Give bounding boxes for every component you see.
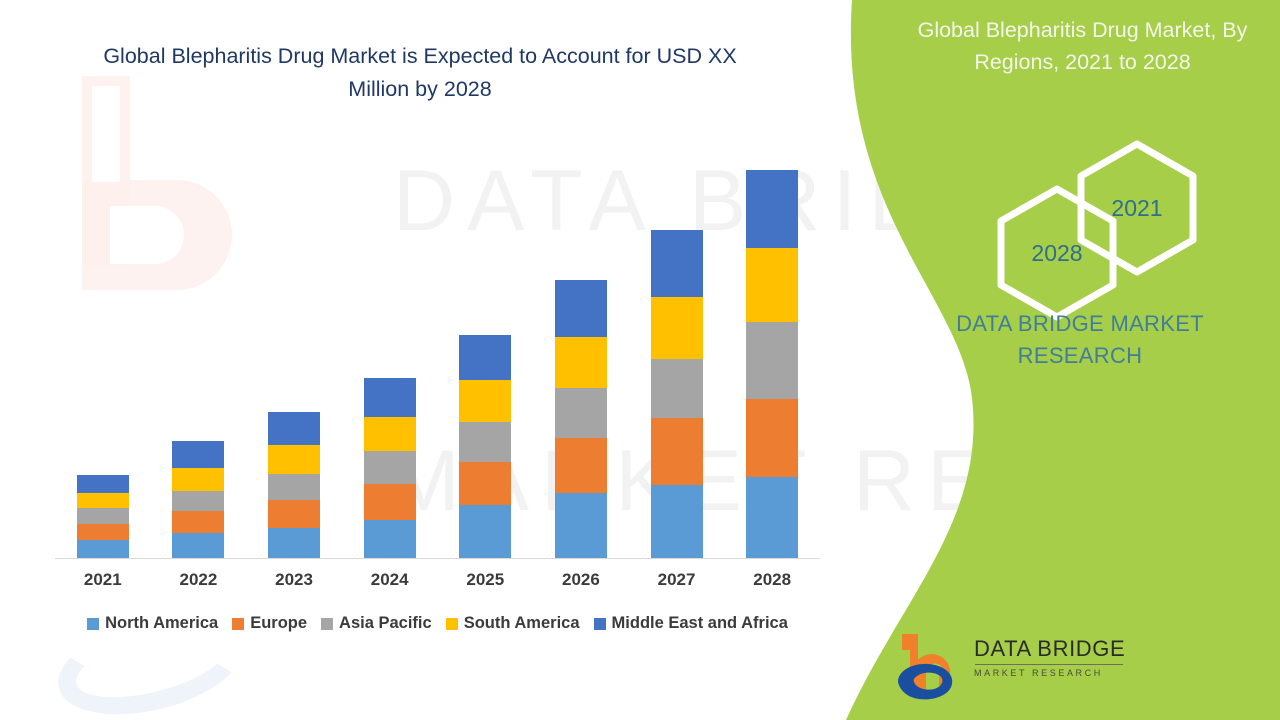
hexagon-badge-end: 2028 [994, 183, 1120, 323]
bar-segment[interactable] [172, 441, 224, 468]
bar-segment[interactable] [651, 359, 703, 418]
bar-segment[interactable] [555, 493, 607, 558]
x-axis-labels: 20212022202320242025202620272028 [55, 570, 820, 590]
hexagon-badges: 2021 2028 [980, 138, 1200, 298]
panel-title: Global Blepharitis Drug Market, By Regio… [890, 14, 1275, 78]
bar-segment[interactable] [746, 322, 798, 399]
legend-swatch-icon [594, 618, 606, 630]
x-axis-tick-label: 2026 [533, 570, 629, 590]
stacked-bar[interactable] [459, 335, 511, 558]
bar-segment[interactable] [459, 422, 511, 461]
logo-mark-icon [892, 630, 968, 706]
bar-slot [724, 170, 820, 558]
legend-label: North America [105, 614, 218, 633]
stacked-bar[interactable] [172, 441, 224, 558]
panel-content: Global Blepharitis Drug Market, By Regio… [880, 0, 1280, 720]
stacked-bar[interactable] [77, 475, 129, 558]
x-axis-tick-label: 2027 [629, 570, 725, 590]
bar-segment[interactable] [555, 438, 607, 493]
bar-segment[interactable] [77, 524, 129, 541]
legend-label: Asia Pacific [339, 614, 432, 633]
bar-segment[interactable] [555, 337, 607, 389]
x-axis-tick-label: 2028 [724, 570, 820, 590]
bar-segment[interactable] [268, 500, 320, 528]
bar-segment[interactable] [172, 511, 224, 533]
bar-segment[interactable] [364, 484, 416, 520]
hexagon-end-label: 2028 [994, 183, 1120, 323]
bar-segment[interactable] [651, 485, 703, 558]
legend-swatch-icon [232, 618, 244, 630]
legend-label: South America [464, 614, 580, 633]
brand-name-text: DATA BRIDGE MARKET RESEARCH [900, 308, 1260, 372]
bar-segment[interactable] [746, 477, 798, 558]
logo-company-name: DATA BRIDGE [974, 636, 1124, 662]
chart-legend: North AmericaEuropeAsia PacificSouth Ame… [55, 614, 820, 633]
infographic-slide: DATA BRIDGE MARKET RESEARCH Global Bleph… [0, 0, 1280, 720]
x-axis-line [55, 558, 820, 559]
bar-segment[interactable] [459, 505, 511, 558]
bar-segment[interactable] [651, 230, 703, 297]
bar-segment[interactable] [268, 445, 320, 474]
bar-segment[interactable] [746, 170, 798, 248]
bar-segment[interactable] [364, 417, 416, 451]
legend-item[interactable]: Europe [232, 614, 307, 633]
chart-plot-area [55, 170, 820, 559]
bar-slot [55, 170, 151, 558]
x-axis-tick-label: 2022 [151, 570, 247, 590]
stacked-bar[interactable] [746, 170, 798, 558]
bar-slot [438, 170, 534, 558]
logo-wordmark: DATA BRIDGE MARKET RESEARCH [974, 636, 1124, 678]
bar-segment[interactable] [172, 491, 224, 512]
chart-title: Global Blepharitis Drug Market is Expect… [70, 40, 770, 106]
bar-segment[interactable] [268, 412, 320, 445]
legend-label: Middle East and Africa [612, 614, 788, 633]
bar-slot [533, 170, 629, 558]
bar-segment[interactable] [651, 418, 703, 484]
bar-slot [151, 170, 247, 558]
legend-item[interactable]: Middle East and Africa [594, 614, 788, 633]
company-logo: DATA BRIDGE MARKET RESEARCH [892, 630, 1122, 706]
legend-swatch-icon [87, 618, 99, 630]
bar-segment[interactable] [746, 248, 798, 322]
bar-segment[interactable] [172, 533, 224, 558]
bar-segment[interactable] [555, 388, 607, 438]
logo-tagline: MARKET RESEARCH [974, 668, 1124, 678]
bar-segment[interactable] [459, 335, 511, 381]
legend-swatch-icon [321, 618, 333, 630]
bar-segment[interactable] [746, 399, 798, 478]
bar-segment[interactable] [77, 475, 129, 493]
x-axis-tick-label: 2024 [342, 570, 438, 590]
bar-segment[interactable] [555, 280, 607, 337]
logo-divider [975, 664, 1123, 665]
legend-item[interactable]: Asia Pacific [321, 614, 432, 633]
x-axis-tick-label: 2023 [246, 570, 342, 590]
stacked-bar[interactable] [268, 412, 320, 558]
bar-slot [629, 170, 725, 558]
bar-segment[interactable] [77, 493, 129, 509]
x-axis-tick-label: 2021 [55, 570, 151, 590]
bar-segment[interactable] [364, 520, 416, 558]
bar-segment[interactable] [364, 378, 416, 417]
legend-item[interactable]: North America [87, 614, 218, 633]
bar-segment[interactable] [172, 468, 224, 491]
bar-segment[interactable] [268, 528, 320, 558]
bar-slot [342, 170, 438, 558]
bar-segment[interactable] [268, 474, 320, 500]
stacked-bar[interactable] [364, 378, 416, 558]
legend-item[interactable]: South America [446, 614, 580, 633]
x-axis-tick-label: 2025 [438, 570, 534, 590]
stacked-bar[interactable] [651, 230, 703, 558]
bar-segment[interactable] [651, 297, 703, 359]
bar-segment[interactable] [77, 540, 129, 558]
legend-label: Europe [250, 614, 307, 633]
stacked-bar-group [55, 170, 820, 558]
legend-swatch-icon [446, 618, 458, 630]
bar-segment[interactable] [459, 380, 511, 422]
bar-segment[interactable] [459, 462, 511, 505]
stacked-bar[interactable] [555, 280, 607, 558]
bar-slot [246, 170, 342, 558]
bar-segment[interactable] [364, 451, 416, 483]
bar-segment[interactable] [77, 508, 129, 524]
